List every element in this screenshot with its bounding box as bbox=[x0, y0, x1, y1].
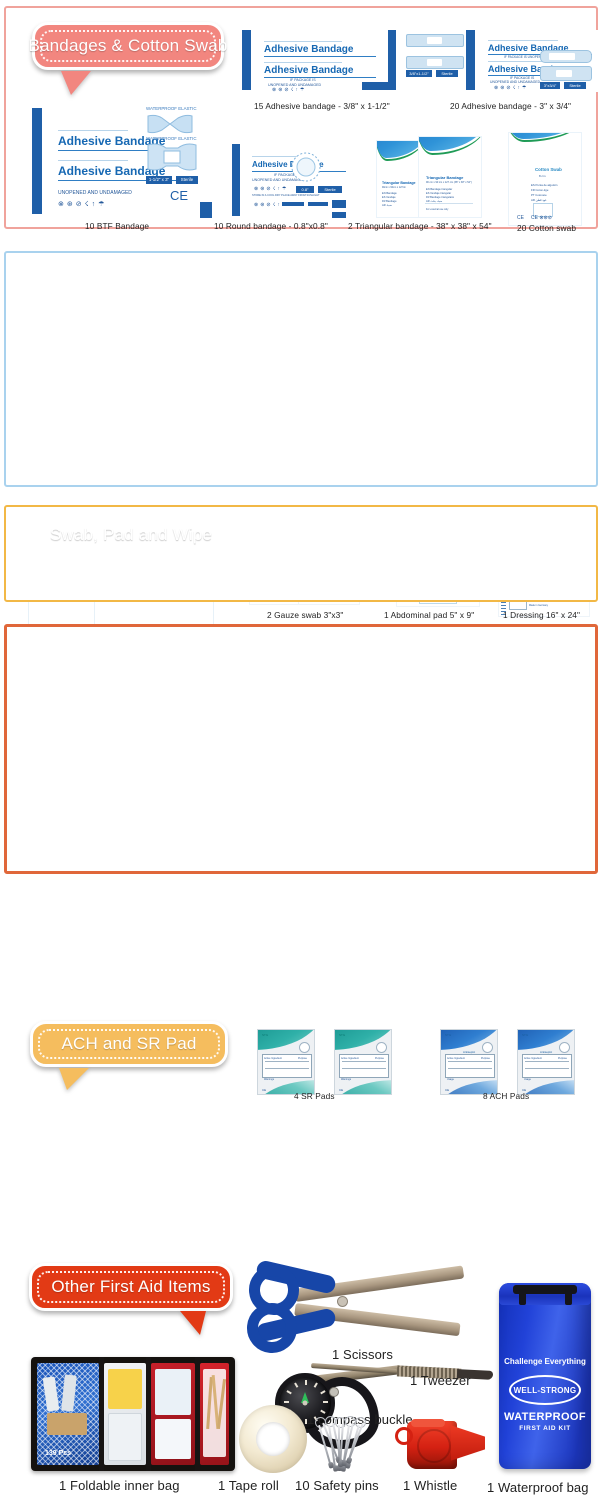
section-title-bubble-other: Other First Aid Items bbox=[29, 1263, 233, 1311]
package-adhesive-bandage-small: Adhesive Bandage Adhesive Bandage IF PAC… bbox=[242, 30, 396, 92]
bag-product: WATERPROOF bbox=[499, 1411, 591, 1423]
section-swab-pad-wipe: Swab, Pad and Wipe Non-Adherent Pad 7.5 … bbox=[4, 251, 598, 487]
sachet-purpose: Purpose bbox=[375, 1057, 384, 1060]
foldable-inner-bag: 139 Pcs bbox=[31, 1357, 235, 1471]
section-title-swab: Swab, Pad and Wipe bbox=[50, 525, 212, 545]
bag-tagline: Challenge Everything bbox=[499, 1357, 591, 1366]
pkg-lang-2: FR Coton-tige bbox=[531, 188, 548, 192]
caption-round-bandage: 10 Round bandage - 0.8"x0.8" bbox=[214, 221, 328, 231]
bandage-strip-1 bbox=[406, 34, 464, 47]
first-aid-kit-contents-infographic: Bandages & Cotton Swab Adhesive Bandage … bbox=[0, 0, 602, 879]
inner-bag-count: 139 Pcs bbox=[45, 1450, 71, 1457]
sachet-sr-pad-1: STG Drug Facts Active Ingredient Purpose… bbox=[257, 1029, 315, 1095]
section-other-items: Other First Aid Items 139 Pcs bbox=[4, 624, 598, 874]
pkg-lang-1: ES Punta de algodón bbox=[531, 183, 557, 187]
section-title-bandages: Bandages & Cotton Swab bbox=[28, 36, 227, 56]
bag-subtitle: FIRST AID KIT bbox=[499, 1425, 591, 1432]
caption-dressing: 1 Dressing 16" x 24" bbox=[503, 610, 580, 620]
bandage-strip-3 bbox=[540, 50, 592, 63]
pkg-title: Triangular Bandage bbox=[382, 181, 416, 185]
waterproof-elastic-label-2: WATERPROOF ELASTIC bbox=[146, 136, 197, 141]
sachet-active: Active Ingredient bbox=[524, 1057, 542, 1060]
pkg-symbols: ⊗⊛⊘☇↑☂ bbox=[58, 200, 107, 208]
caption-adhesive-large: 20 Adhesive bandage - 3" x 3/4" bbox=[450, 101, 571, 111]
pkg-title: Triangular Bandage bbox=[426, 175, 463, 180]
pkg-title: Adhesive Bandage bbox=[264, 44, 353, 55]
pkg-symbols: ⊗⊛⊘☇↑☂ bbox=[494, 85, 528, 91]
tape-roll bbox=[239, 1405, 307, 1473]
bandage-sterile-tag: Sterile bbox=[436, 70, 458, 77]
safety-pins bbox=[313, 1417, 389, 1473]
section-ach-sr-pad: ACH and SR Pad STG Drug Facts Active Ing… bbox=[4, 505, 598, 602]
pkg-lang-3: FR Bandage triangulaire bbox=[426, 196, 454, 199]
ce-mark: CE bbox=[170, 188, 188, 203]
caption-abdominal-pad: 1 Abdominal pad 5" x 9" bbox=[384, 610, 474, 620]
waterproof-elastic-label-1: WATERPROOF ELASTIC bbox=[146, 106, 197, 111]
caption-ach-pads: 8 ACH Pads bbox=[483, 1091, 529, 1101]
section-title-ach: ACH and SR Pad bbox=[61, 1034, 196, 1054]
caption-waterproof-bag: 1 Waterproof bag bbox=[487, 1480, 589, 1495]
sachet-purpose: Purpose bbox=[298, 1057, 307, 1060]
caption-cotton-swab: 20 Cotton swab bbox=[517, 223, 576, 233]
sachet-ach-pad-1: STG Antiseptic Active Ingredient Purpose… bbox=[440, 1029, 498, 1095]
caption-whistle: 1 Whistle bbox=[403, 1478, 457, 1493]
caption-adhesive-small: 15 Adhesive bandage - 3/8" x 1-1/2" bbox=[254, 101, 390, 111]
waterproof-bag: Challenge Everything WELL-STRONG WATERPR… bbox=[499, 1283, 591, 1469]
bubble-tail bbox=[59, 1068, 89, 1090]
sachet-ach-pad-2: STG Antiseptic Active Ingredient Purpose… bbox=[517, 1029, 575, 1095]
sachet-active: Active Ingredient bbox=[447, 1057, 465, 1060]
pkg-title-2: Adhesive Bandage bbox=[264, 65, 353, 76]
bubble-tail bbox=[180, 1311, 206, 1335]
pkg-symbols: ⊗⊛⊘☇↑☂ bbox=[272, 87, 306, 92]
bandage-strip-4 bbox=[540, 66, 592, 81]
section-bandages: Bandages & Cotton Swab Adhesive Bandage … bbox=[4, 6, 598, 229]
sachet-purpose: Purpose bbox=[481, 1057, 490, 1060]
sachet-purpose: Purpose bbox=[558, 1057, 567, 1060]
caption-foldable-inner-bag: 1 Foldable inner bag bbox=[59, 1478, 180, 1493]
pkg-lang-2: ES Vendaje triangular bbox=[426, 192, 451, 195]
pkg-unopened: UNOPENED AND UNDAMAGED bbox=[58, 190, 132, 196]
pkg-sub: 8 cm bbox=[539, 174, 546, 178]
bandage-size-tag-2: 3"x3/4" bbox=[540, 82, 560, 89]
section-title-other: Other First Aid Items bbox=[51, 1277, 210, 1297]
package-cotton-swab: Cotton Swab 8 cm ES Punta de algodón FR … bbox=[508, 132, 582, 226]
sachet-active: Active Ingredient bbox=[341, 1057, 359, 1060]
pkg-symbols-1: ⊗⊛⊘☇↑☂ bbox=[254, 186, 288, 192]
bandage-strip-2 bbox=[406, 56, 464, 69]
scissors bbox=[249, 1261, 469, 1347]
caption-triangular-bandage: 2 Triangular bandage - 38" x 38" x 54" bbox=[348, 221, 492, 231]
pkg-foot: For external use only bbox=[426, 208, 448, 211]
package-triangular-bandage-b: Triangular Bandage 90 cm x 90 cm x 127 c… bbox=[418, 136, 482, 218]
sachet-active: Active Ingredient bbox=[264, 1057, 282, 1060]
section-title-bubble-bandages: Bandages & Cotton Swab bbox=[32, 22, 224, 70]
sachet-sr-pad-2: STG Drug Facts Active Ingredient Purpose… bbox=[334, 1029, 392, 1095]
btf-sterile-tag: Sterile bbox=[176, 176, 198, 184]
bag-brand-logo: WELL-STRONG bbox=[509, 1375, 581, 1405]
pkg-sub: 90 cm x 90 cm x 127 cm (38" x 38" x 54") bbox=[426, 181, 472, 184]
pkg-unopened: UNOPENED AND UNDAMAGED bbox=[490, 80, 540, 84]
pkg-title: Cotton Swab bbox=[535, 167, 562, 172]
bandage-size-tag: 3/8"x1-1/2" bbox=[406, 70, 432, 77]
bubble-tail bbox=[61, 71, 91, 95]
pkg-lang-4: AR عود قطن bbox=[531, 198, 547, 202]
btf-bandage-shape-1 bbox=[146, 113, 194, 135]
section-title-bubble-ach: ACH and SR Pad bbox=[30, 1021, 228, 1067]
pkg-lang-3: PT Cotonete bbox=[531, 193, 547, 197]
caption-gauze-swab: 2 Gauze swab 3"x3" bbox=[267, 610, 343, 620]
btf-bandage-shape-2 bbox=[146, 142, 198, 172]
caption-btf-bandage: 10 BTF Bandage bbox=[85, 221, 149, 231]
btf-size-tag: 1-1/2" x 3" bbox=[146, 176, 172, 184]
caption-safety-pins: 10 Safety pins bbox=[295, 1478, 379, 1493]
pkg-ifpackage: IF PACKAGE IS bbox=[290, 78, 316, 82]
bag-brand-text: WELL-STRONG bbox=[514, 1386, 577, 1395]
round-bandage-shape bbox=[289, 150, 323, 184]
caption-sr-pads: 4 SR Pads bbox=[294, 1091, 335, 1101]
bandage-sterile-tag-2: Sterile bbox=[564, 82, 586, 89]
caption-tweezer: 1 Tweezer bbox=[410, 1373, 471, 1388]
pkg-lang-1: EN Bandage triangular bbox=[426, 188, 452, 191]
whistle bbox=[393, 1417, 485, 1473]
caption-tape-roll: 1 Tape roll bbox=[218, 1478, 279, 1493]
